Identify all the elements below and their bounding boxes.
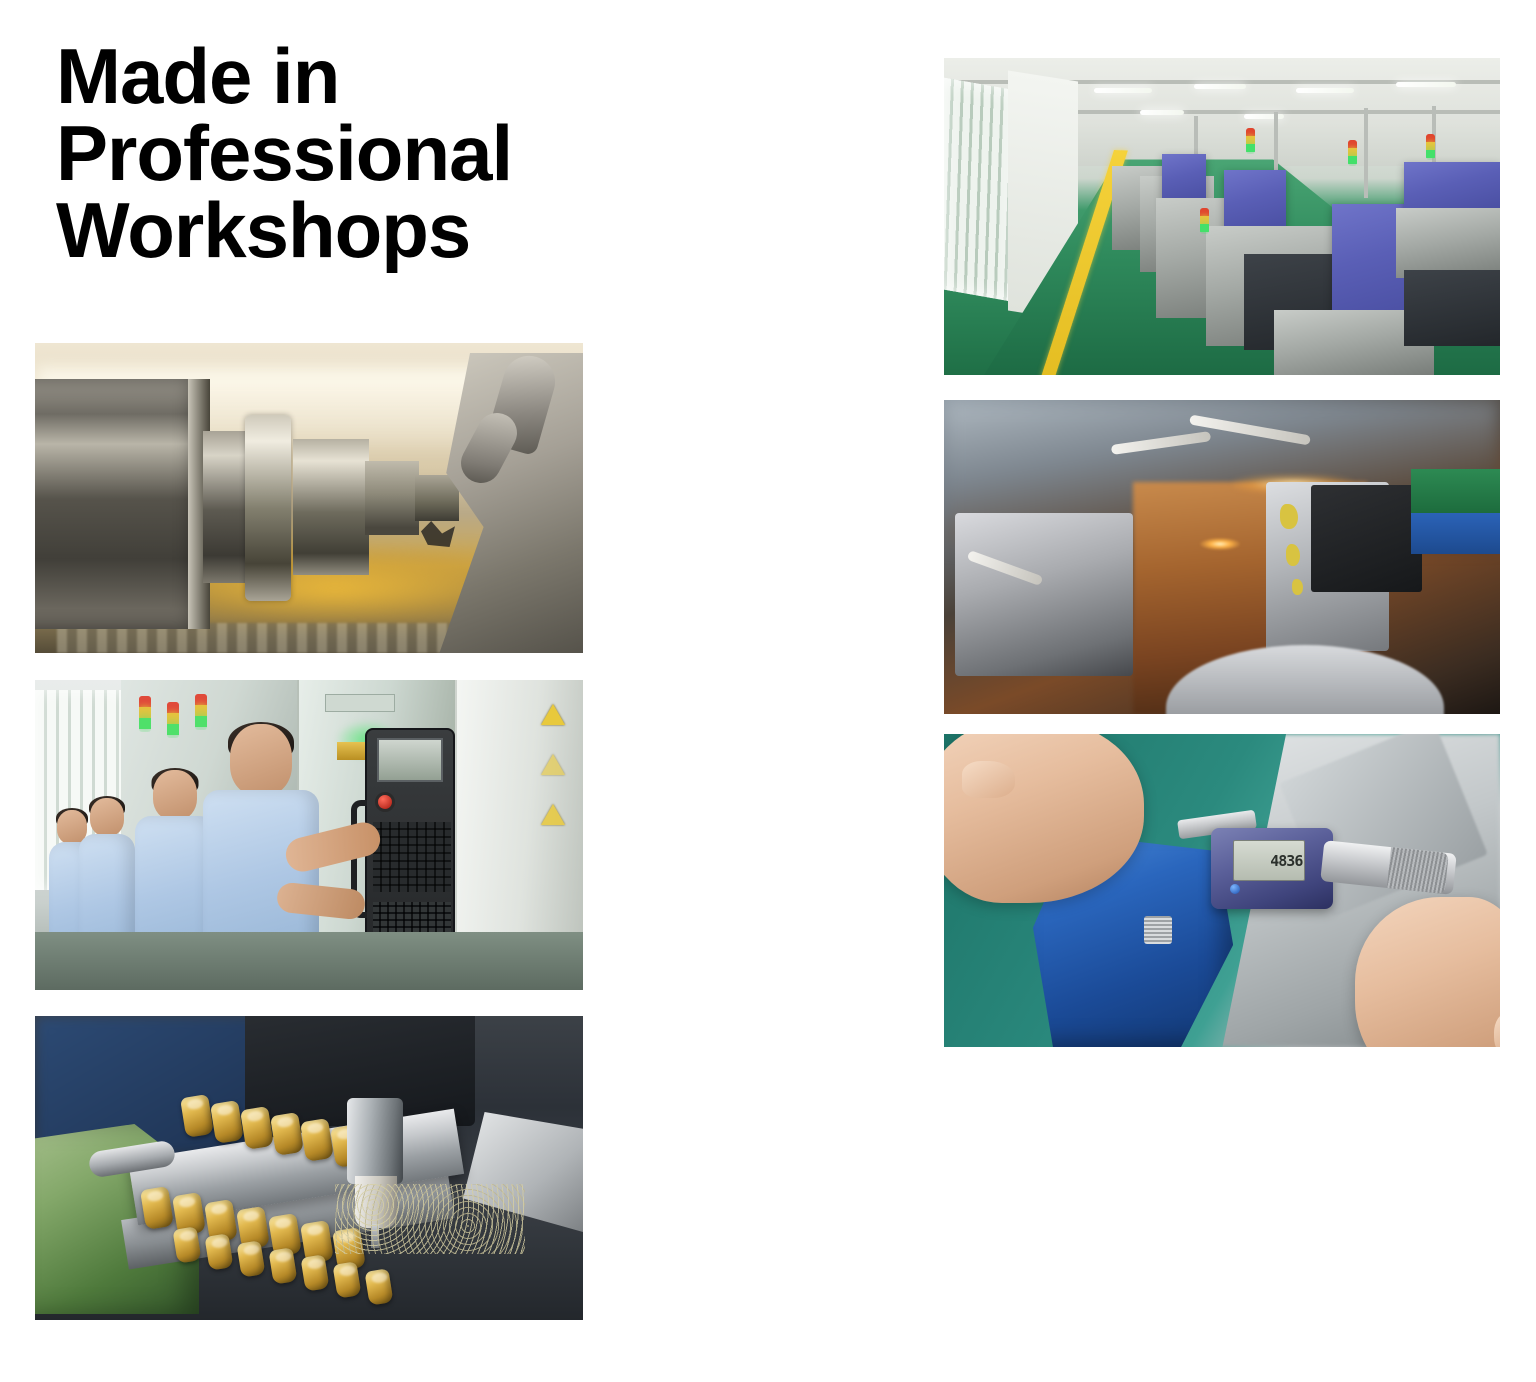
lathe-chuck <box>35 379 205 629</box>
signal-tower <box>1348 140 1357 166</box>
emergency-stop-button <box>375 792 395 812</box>
green-circuit-board <box>1411 469 1500 513</box>
worker-head <box>230 724 292 796</box>
ceiling-light <box>1094 88 1152 93</box>
ceiling-light <box>1296 88 1354 93</box>
tower-lamp-green <box>1426 150 1435 158</box>
ceiling-light <box>1396 82 1456 87</box>
brass-part <box>300 1118 334 1162</box>
black-component <box>1311 485 1422 592</box>
ceiling-light <box>1140 110 1184 115</box>
micrometer-lcd-reading: 4836 <box>1233 840 1305 881</box>
control-panel-keypad-upper <box>373 822 451 892</box>
shaft-journal-3 <box>365 461 419 535</box>
brass-part <box>140 1186 174 1230</box>
tower-lamp-green <box>1246 144 1255 152</box>
precision-scene <box>944 400 1500 714</box>
ceiling-light <box>1194 84 1246 89</box>
brass-part <box>332 1261 361 1298</box>
tower-lamp-green <box>1200 224 1209 232</box>
tower-lamp-green <box>1348 156 1357 164</box>
brass-part <box>240 1106 274 1150</box>
tower-lamp-red <box>167 702 179 713</box>
photo-factory-floor: Factory floor with rows of CNC lathes on… <box>944 58 1500 375</box>
mill-spindle <box>347 1098 403 1184</box>
brass-part <box>300 1254 329 1291</box>
tower-lamp-green <box>167 724 179 735</box>
warning-triangle-icon <box>541 704 565 725</box>
micrometer-scene: 4836 <box>944 734 1500 1047</box>
lathe-scene <box>35 343 583 653</box>
ceiling-light <box>1244 114 1284 119</box>
brass-part <box>180 1094 214 1138</box>
brass-part <box>172 1226 201 1263</box>
cnc-machine-right <box>1396 208 1500 278</box>
tower-lamp-red <box>139 696 151 707</box>
photo-cnc-lathe-turning: CNC lathe turning a stepped steel shaft <box>35 343 583 653</box>
blue-circuit-board <box>1411 513 1500 554</box>
inspector-fingers <box>962 761 1015 797</box>
brass-part <box>236 1240 265 1277</box>
control-panel-screen <box>377 738 443 782</box>
inspector-thumb <box>1494 1013 1500 1047</box>
factory-scene <box>944 58 1500 375</box>
tower-lamp-yellow <box>167 713 179 724</box>
tower-lamp-green <box>139 718 151 729</box>
tower-lamp-yellow <box>139 707 151 718</box>
support-pole <box>1364 108 1368 198</box>
signal-tower-1 <box>139 696 151 732</box>
shaft-journal-2 <box>293 439 369 575</box>
brass-part <box>270 1112 304 1156</box>
brass-swarf-chips <box>335 1184 525 1254</box>
tower-lamp-red <box>1426 134 1435 142</box>
brass-part <box>268 1247 297 1284</box>
tower-lamp-yellow <box>195 705 207 716</box>
photo-precision-station: Automated precision assembly station wit… <box>944 400 1500 714</box>
worker-head <box>90 798 124 836</box>
signal-tower <box>1246 128 1255 154</box>
signal-tower <box>1426 134 1435 160</box>
photo-brass-parts-milling: Brass fittings machined on a CNC mill wi… <box>35 1016 583 1320</box>
photo-cnc-operators: Operators in blue uniforms at CNC contro… <box>35 680 583 990</box>
tower-lamp-red <box>1348 140 1357 148</box>
warning-triangle-icon <box>541 804 565 825</box>
metal-chip <box>421 521 455 547</box>
tower-lamp-red <box>1246 128 1255 136</box>
tower-lamp-yellow <box>1348 148 1357 156</box>
warning-triangle-icon <box>541 754 565 775</box>
cnc-machine-dark-cover <box>1404 270 1500 346</box>
workshop-floor <box>35 932 583 990</box>
factory-window <box>944 78 1016 303</box>
signal-tower <box>1200 208 1209 234</box>
yellow-marking <box>1292 579 1303 595</box>
vise-screw <box>1144 916 1172 944</box>
brass-part <box>364 1268 393 1305</box>
photo-micrometer-inspection: 4836 Quality inspector measuring a part … <box>944 734 1500 1047</box>
pneumatic-jig-left <box>955 513 1133 676</box>
tower-lamp-red <box>1200 208 1209 216</box>
tower-lamp-yellow <box>1200 216 1209 224</box>
brass-part <box>204 1233 233 1270</box>
shaft-flange <box>245 415 291 601</box>
machining-spark <box>1200 538 1240 550</box>
operators-scene <box>35 680 583 990</box>
tower-lamp-yellow <box>1246 136 1255 144</box>
machine-id-plate <box>325 694 395 712</box>
made-in-professional-workshops-banner: Made in Professional Workshops CNC lathe… <box>0 0 1536 1382</box>
tower-lamp-yellow <box>1426 142 1435 150</box>
worker-head <box>153 770 197 820</box>
page-title: Made in Professional Workshops <box>56 38 756 270</box>
brass-scene <box>35 1016 583 1320</box>
signal-tower-2 <box>167 702 179 738</box>
tower-lamp-red <box>195 694 207 705</box>
brass-part <box>210 1100 244 1144</box>
